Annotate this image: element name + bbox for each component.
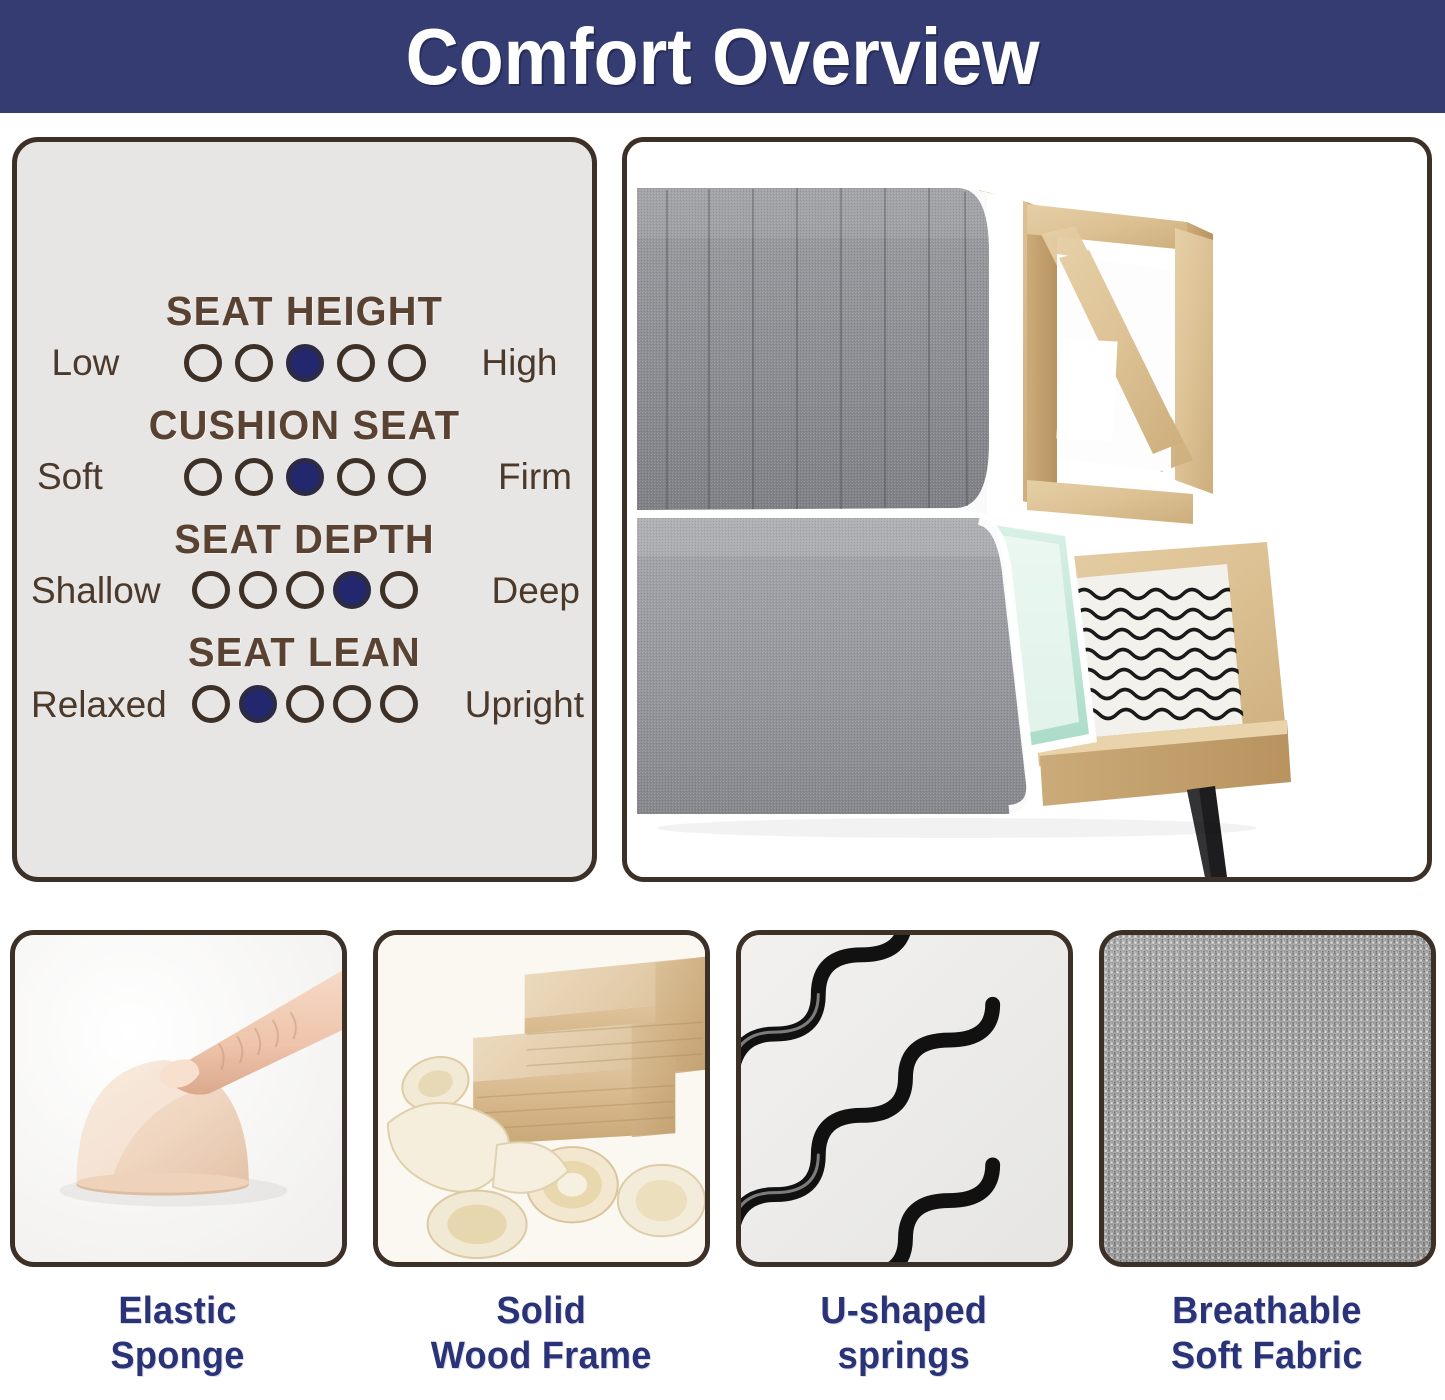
rating-dot[interactable] xyxy=(337,458,375,496)
scale-right-label: Firm xyxy=(426,458,593,495)
rating-dot[interactable] xyxy=(235,344,273,382)
scale-left-label: Shallow xyxy=(17,572,192,609)
scale-left-label: Relaxed xyxy=(17,686,192,723)
rating-dot[interactable] xyxy=(235,458,273,496)
rating-dot-selected[interactable] xyxy=(239,685,277,723)
feature-thumbnail-serpentine-spring-wires xyxy=(736,930,1073,1267)
rating-dot[interactable] xyxy=(184,344,222,382)
rating-dot[interactable] xyxy=(286,685,324,723)
u-spring-art xyxy=(741,935,1068,1262)
feature-card-gray-woven-fabric-swatch: Breathable Soft Fabric xyxy=(1097,930,1437,1400)
rating-dot[interactable] xyxy=(333,685,371,723)
rating-dot-selected[interactable] xyxy=(333,571,371,609)
feature-label: U-shaped springs xyxy=(821,1289,988,1379)
spec-group-cushion-seat: CUSHION SEAT Soft Firm xyxy=(17,394,592,508)
scale-dots xyxy=(184,458,426,496)
fabric-swatch-art xyxy=(1104,935,1431,1262)
rating-dot[interactable] xyxy=(380,571,418,609)
scale-dots xyxy=(192,571,418,609)
wood-frame-art xyxy=(378,935,705,1262)
spec-scale: Shallow Deep xyxy=(17,571,592,609)
scale-dots xyxy=(184,344,426,382)
scale-left-label: Low xyxy=(34,344,184,381)
page-title: Comfort Overview xyxy=(406,17,1040,97)
rating-dot[interactable] xyxy=(337,344,375,382)
feature-cards-row: Elastic Sponge xyxy=(0,930,1445,1400)
rating-dot-selected[interactable] xyxy=(286,344,324,382)
spec-scale: Relaxed Upright xyxy=(17,685,592,723)
feature-thumbnail-gray-woven-fabric-swatch xyxy=(1099,930,1436,1267)
feature-label: Solid Wood Frame xyxy=(431,1289,652,1379)
spec-group-title: SEAT LEAN xyxy=(26,630,584,676)
spec-group-seat-depth: SEAT DEPTH Shallow Deep xyxy=(17,508,592,622)
sofa-cutaway-panel xyxy=(622,137,1432,882)
scale-dots xyxy=(192,685,418,723)
rating-dot[interactable] xyxy=(192,685,230,723)
top-row: SEAT HEIGHT Low High CUSHION SEAT Soft F… xyxy=(0,113,1445,903)
spec-group-title: SEAT DEPTH xyxy=(26,517,584,563)
rating-dot[interactable] xyxy=(286,571,324,609)
comfort-spec-panel: SEAT HEIGHT Low High CUSHION SEAT Soft F… xyxy=(12,137,597,882)
spec-group-seat-height: SEAT HEIGHT Low High xyxy=(17,280,592,394)
scale-right-label: High xyxy=(426,344,576,381)
rating-dot[interactable] xyxy=(239,571,277,609)
spec-scale: Low High xyxy=(17,344,592,382)
scale-right-label: Upright xyxy=(418,686,592,723)
sofa-cutaway-illustration xyxy=(627,142,1427,877)
rating-dot[interactable] xyxy=(388,458,426,496)
scale-right-label: Deep xyxy=(418,572,592,609)
spec-scale: Soft Firm xyxy=(17,458,592,496)
feature-card-wood-blocks-and-shavings: Solid Wood Frame xyxy=(371,930,711,1400)
sponge-dome-art xyxy=(15,935,342,1262)
spec-group-seat-lean: SEAT LEAN Relaxed Upright xyxy=(17,621,592,735)
rating-dot[interactable] xyxy=(380,685,418,723)
scale-left-label: Soft xyxy=(17,458,184,495)
feature-card-serpentine-spring-wires: U-shaped springs xyxy=(734,930,1074,1400)
feature-label: Breathable Soft Fabric xyxy=(1171,1289,1363,1379)
rating-dot-selected[interactable] xyxy=(286,458,324,496)
spec-group-title: CUSHION SEAT xyxy=(26,403,584,449)
rating-dot[interactable] xyxy=(184,458,222,496)
rating-dot[interactable] xyxy=(388,344,426,382)
page-header-bar: Comfort Overview xyxy=(0,0,1445,113)
feature-label: Elastic Sponge xyxy=(111,1289,245,1379)
rating-dot[interactable] xyxy=(192,571,230,609)
feature-thumbnail-finger-pressing-sponge-dome xyxy=(10,930,347,1267)
spec-group-title: SEAT HEIGHT xyxy=(26,289,584,335)
feature-thumbnail-wood-blocks-and-shavings xyxy=(373,930,710,1267)
feature-card-finger-pressing-sponge-dome: Elastic Sponge xyxy=(8,930,348,1400)
